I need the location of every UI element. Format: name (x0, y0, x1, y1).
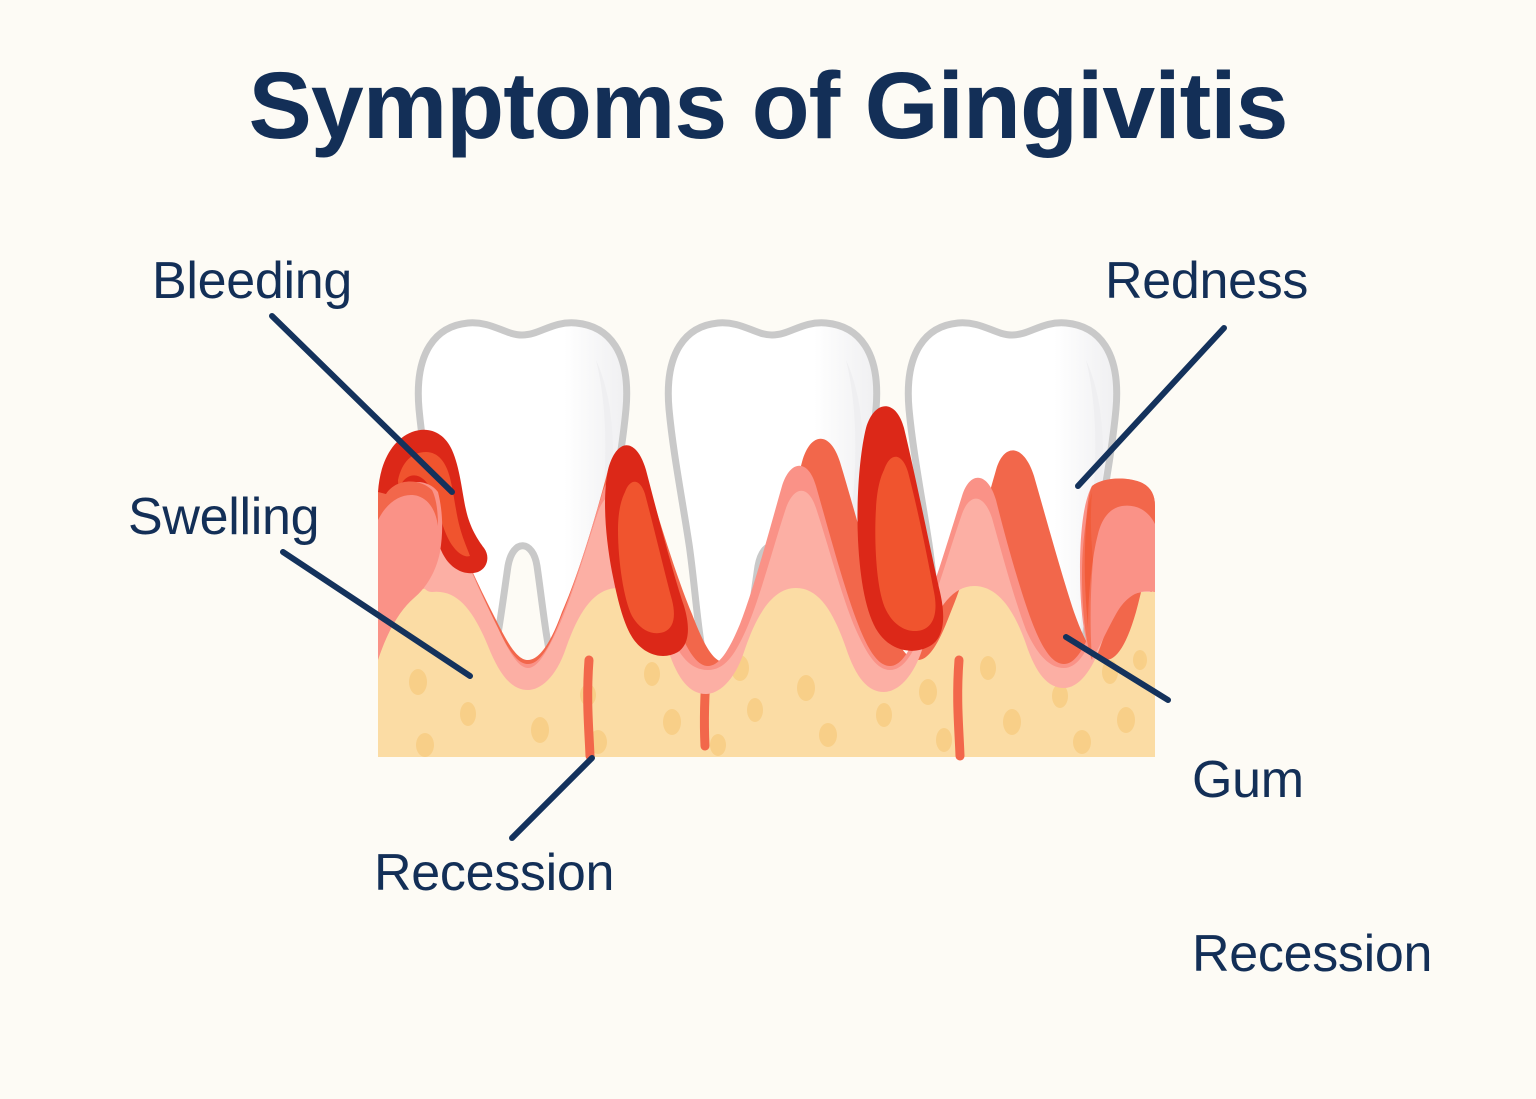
label-recession: Recession (374, 844, 614, 902)
label-gum-recession-line1: Gum (1192, 751, 1432, 809)
label-bleeding: Bleeding (152, 252, 352, 310)
label-gum-recession-line2: Recession (1192, 925, 1432, 983)
leader-recession (512, 758, 592, 838)
label-gum-recession: Gum Recession (1192, 635, 1432, 1099)
label-redness: Redness (1105, 252, 1308, 310)
label-swelling: Swelling (128, 488, 319, 546)
infographic-canvas: Symptoms of Gingivitis (0, 0, 1536, 1024)
